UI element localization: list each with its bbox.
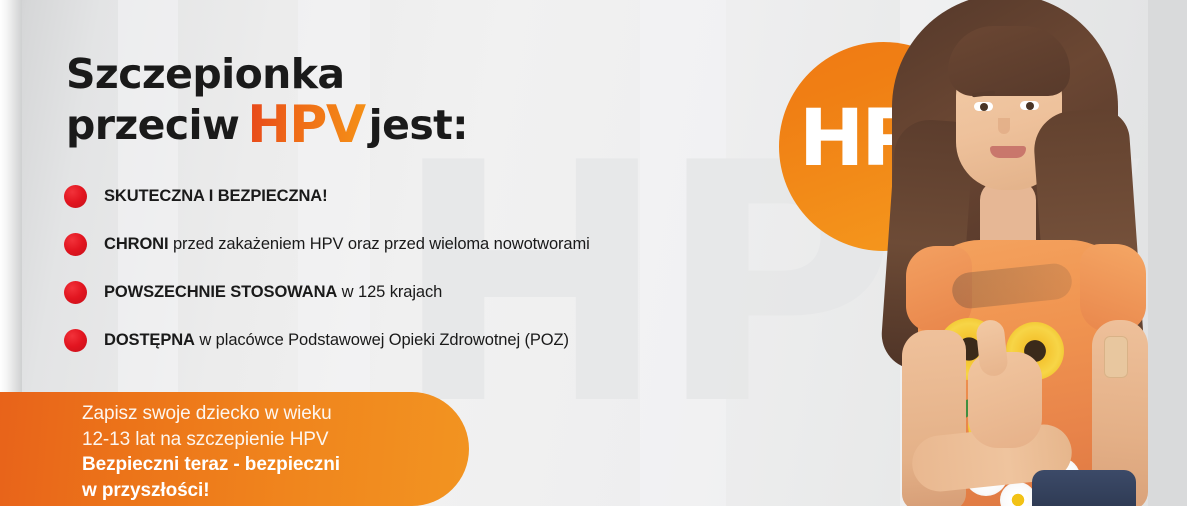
list-item-rest: przed zakażeniem HPV oraz przed wieloma … [168,235,589,253]
benefits-list: SKUTECZNA I BEZPIECZNA! CHRONI przed zak… [64,172,590,364]
list-item: DOSTĘPNA w placówce Podstawowej Opieki Z… [64,316,590,364]
nose [998,118,1010,134]
hpv-vaccination-poster: HPV Szczepionka przeciwHPVjest: SKUTECZN… [0,0,1200,506]
hpv-wordmark: HPV [239,95,368,155]
title-line-1: Szczepionka [66,49,468,100]
cta-line-3: Bezpieczni teraz - bezpieczni [82,452,340,478]
list-item-bold: DOSTĘPNA [104,331,195,349]
eye-left [974,102,993,111]
list-item-label: DOSTĘPNA w placówce Podstawowej Opieki Z… [104,331,569,350]
list-item-label: SKUTECZNA I BEZPIECZNA! [104,187,328,206]
red-dot-icon [64,233,87,256]
girl-photo [856,0,1188,506]
list-item-bold: CHRONI [104,235,168,253]
title-line2-after: jest: [369,101,468,149]
list-item-bold: POWSZECHNIE STOSOWANA [104,283,337,301]
list-item: SKUTECZNA I BEZPIECZNA! [64,172,590,220]
page-title: Szczepionka przeciwHPVjest: [66,49,468,151]
title-line2-before: przeciw [66,101,239,149]
list-item: CHRONI przed zakażeniem HPV oraz przed w… [64,220,590,268]
cta-line-4: w przyszłości! [82,478,340,504]
sleeve-right [1080,244,1146,332]
red-dot-icon [64,329,87,352]
red-dot-icon [64,185,87,208]
list-item-label: CHRONI przed zakażeniem HPV oraz przed w… [104,235,590,254]
red-dot-icon [64,281,87,304]
cta-line-1: Zapisz swoje dziecko w wieku [82,401,340,427]
cta-text-block: Zapisz swoje dziecko w wieku 12-13 lat n… [82,401,340,503]
plaster-bandage [1104,336,1128,378]
list-item-bold: SKUTECZNA I BEZPIECZNA! [104,187,328,205]
eye-right [1020,101,1039,110]
jeans [1032,470,1136,506]
list-item-label: POWSZECHNIE STOSOWANA w 125 krajach [104,283,442,302]
mouth-smile [990,146,1026,158]
list-item: POWSZECHNIE STOSOWANA w 125 krajach [64,268,590,316]
hair-fringe [948,26,1070,96]
title-line-2: przeciwHPVjest: [66,100,468,151]
cta-banner: Zapisz swoje dziecko w wieku 12-13 lat n… [0,392,469,506]
list-item-rest: w 125 krajach [337,283,442,301]
cta-line-2: 12-13 lat na szczepienie HPV [82,427,340,453]
list-item-rest: w placówce Podstawowej Opieki Zdrowotnej… [195,331,569,349]
